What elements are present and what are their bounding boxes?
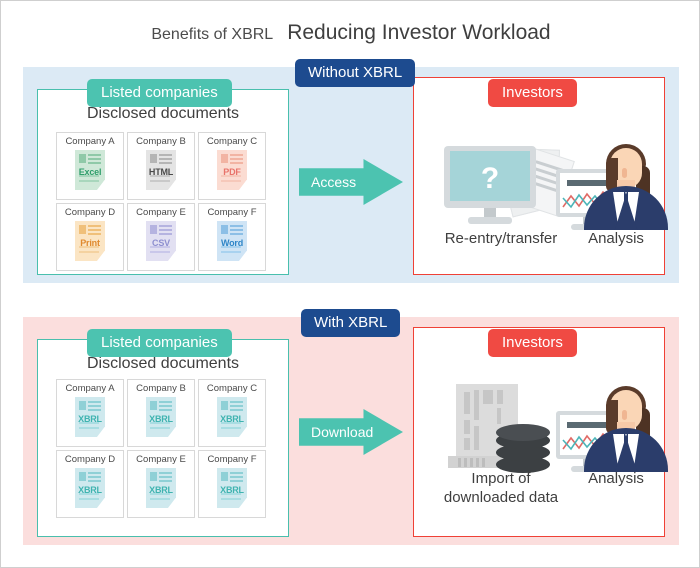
caption-line-2: downloaded data xyxy=(426,488,576,507)
title-main: Reducing Investor Workload xyxy=(287,21,550,44)
server-database-icon xyxy=(456,384,566,476)
document-grid-with: Company A XBRL Company B XBRL xyxy=(56,379,266,518)
document-file-icon: HTML xyxy=(146,150,176,190)
disclosed-documents-heading-without: Disclosed documents xyxy=(37,105,289,123)
document-card[interactable]: Company E CSV xyxy=(127,203,195,271)
document-company-label: Company F xyxy=(207,207,256,219)
access-arrow-label: Access xyxy=(311,174,356,190)
document-file-icon: CSV xyxy=(146,221,176,261)
document-company-label: Company C xyxy=(207,136,257,148)
document-card[interactable]: Company F XBRL xyxy=(198,450,266,518)
document-card[interactable]: Company D Print xyxy=(56,203,124,271)
diagram-canvas: Benefits of XBRLReducing Investor Worklo… xyxy=(0,0,700,568)
document-file-icon: Print xyxy=(75,221,105,261)
page-title: Benefits of XBRLReducing Investor Worklo… xyxy=(1,21,700,45)
pill-listed-companies-with: Listed companies xyxy=(87,329,232,357)
caption-re-entry-transfer: Re-entry/transfer xyxy=(421,229,581,248)
scenario-badge-with-xbrl: With XBRL xyxy=(301,309,400,337)
document-file-icon: XBRL xyxy=(217,468,247,508)
document-company-label: Company B xyxy=(136,383,186,395)
analyst-person-icon xyxy=(584,144,668,230)
monitor-question-icon: ? xyxy=(444,146,536,228)
document-card[interactable]: Company B XBRL xyxy=(127,379,195,447)
document-company-label: Company E xyxy=(136,207,186,219)
document-card[interactable]: Company A Excel xyxy=(56,132,124,200)
document-company-label: Company C xyxy=(207,383,257,395)
caption-analysis-with: Analysis xyxy=(566,469,666,488)
document-file-icon: XBRL xyxy=(75,397,105,437)
document-company-label: Company E xyxy=(136,454,186,466)
database-cylinder-icon xyxy=(496,424,550,474)
analyst-person-icon xyxy=(584,386,668,472)
caption-line-1: Import of xyxy=(426,469,576,488)
document-grid-without: Company A Excel Company B HTML xyxy=(56,132,266,271)
document-file-icon: XBRL xyxy=(146,397,176,437)
scenario-badge-without-xbrl: Without XBRL xyxy=(295,59,415,87)
title-lead: Benefits of XBRL xyxy=(151,26,273,43)
pill-investors-with: Investors xyxy=(488,329,577,357)
pill-listed-companies-without: Listed companies xyxy=(87,79,232,107)
document-company-label: Company B xyxy=(136,136,186,148)
document-card[interactable]: Company B HTML xyxy=(127,132,195,200)
document-company-label: Company D xyxy=(65,207,115,219)
document-file-icon: XBRL xyxy=(146,468,176,508)
document-card[interactable]: Company E XBRL xyxy=(127,450,195,518)
document-file-icon: PDF xyxy=(217,150,247,190)
document-company-label: Company A xyxy=(65,383,114,395)
document-file-icon: Excel xyxy=(75,150,105,190)
caption-import-downloaded-data: Import of downloaded data xyxy=(426,469,576,507)
document-file-icon: Word xyxy=(217,221,247,261)
document-card[interactable]: Company C XBRL xyxy=(198,379,266,447)
document-company-label: Company D xyxy=(65,454,115,466)
caption-analysis-without: Analysis xyxy=(566,229,666,248)
document-card[interactable]: Company D XBRL xyxy=(56,450,124,518)
document-file-icon: XBRL xyxy=(75,468,105,508)
document-company-label: Company F xyxy=(207,454,256,466)
document-card[interactable]: Company C PDF xyxy=(198,132,266,200)
document-company-label: Company A xyxy=(65,136,114,148)
document-file-icon: XBRL xyxy=(217,397,247,437)
download-arrow-label: Download xyxy=(311,424,373,440)
document-card[interactable]: Company A XBRL xyxy=(56,379,124,447)
disclosed-documents-heading-with: Disclosed documents xyxy=(37,355,289,373)
document-card[interactable]: Company F Word xyxy=(198,203,266,271)
pill-investors-without: Investors xyxy=(488,79,577,107)
